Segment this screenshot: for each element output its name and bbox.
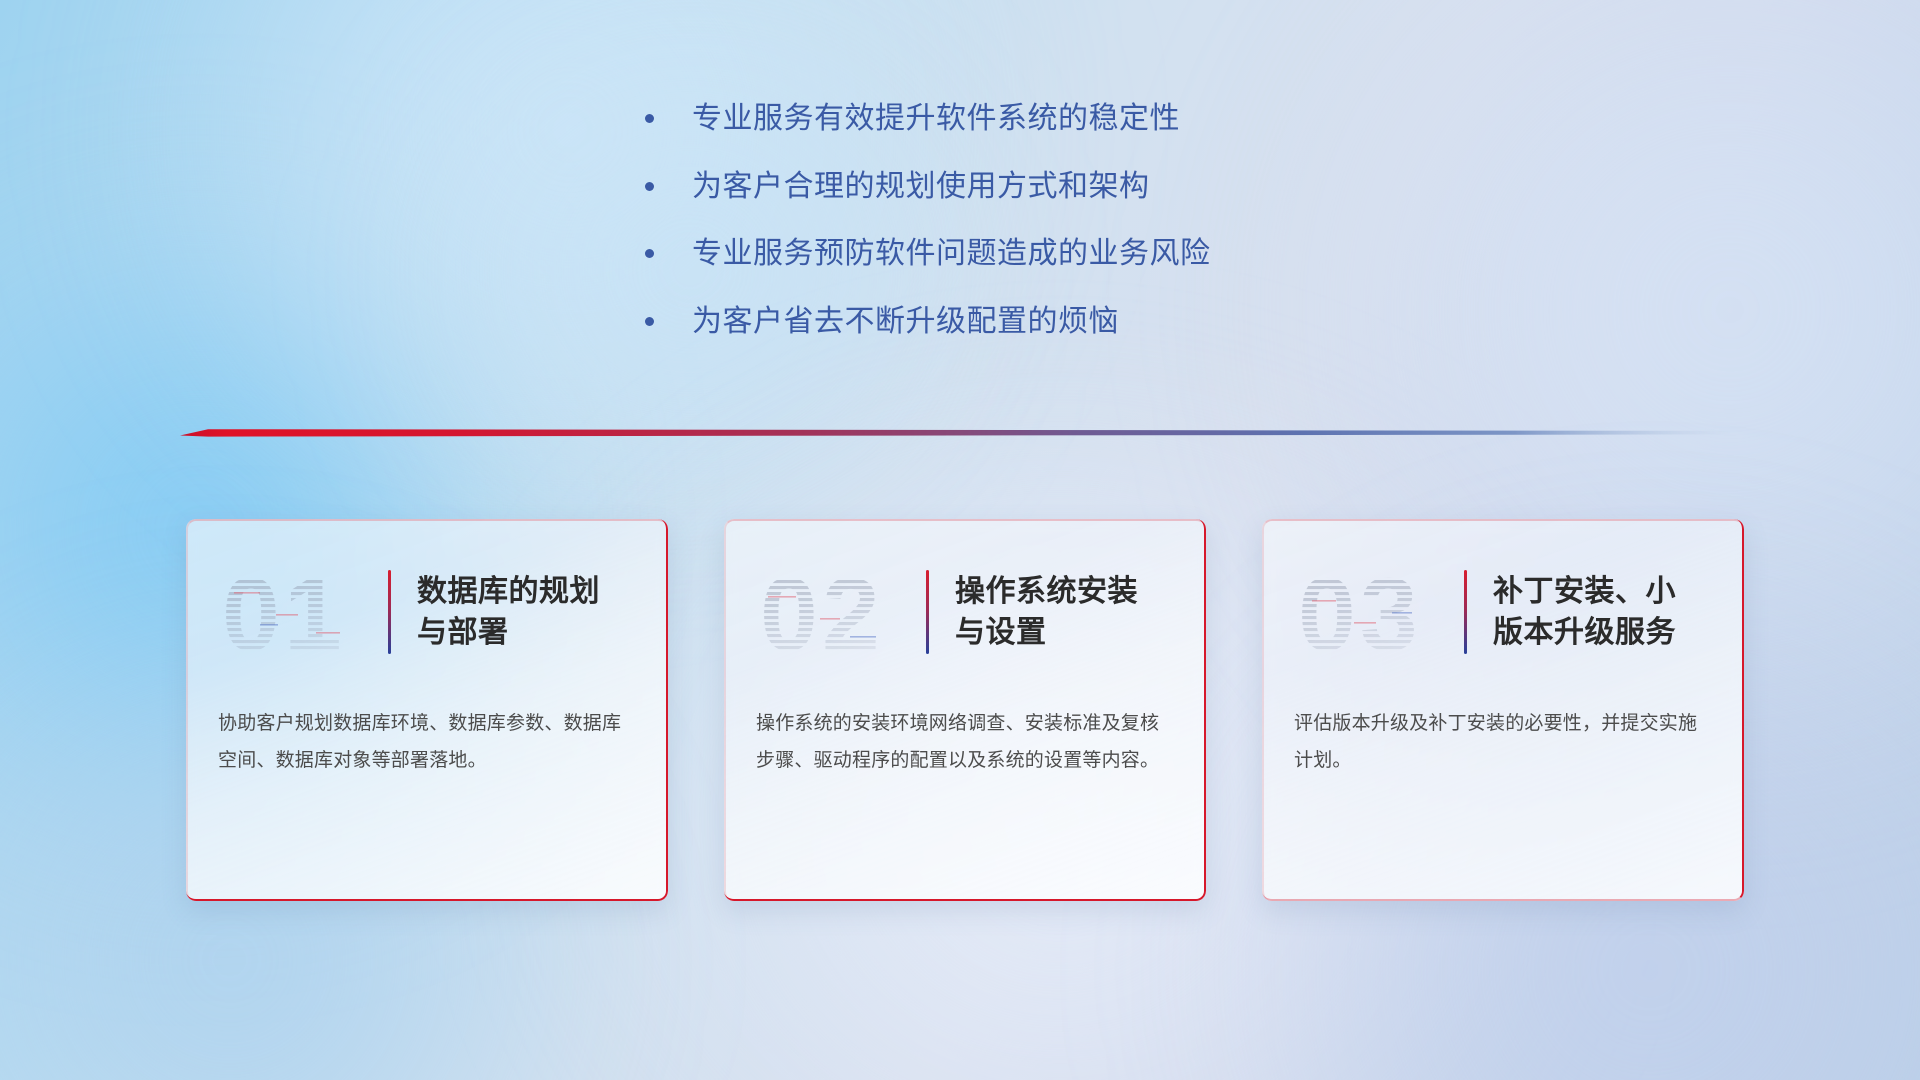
svg-text:01: 01 [222, 557, 346, 668]
card-header: 03 补丁安装、小 版本升级服务 [1262, 519, 1744, 705]
card-number-watermark: 02 [758, 556, 908, 668]
bullet-text: 专业服务预防软件问题造成的业务风险 [692, 235, 1211, 273]
list-item: 为客户合理的规划使用方式和架构 [645, 168, 1465, 206]
bullet-list: 专业服务有效提升软件系统的稳定性 为客户合理的规划使用方式和架构 专业服务预防软… [645, 100, 1465, 340]
service-card-row: 01 数据库的规划 与部署 协助客户规划数据库环境、数据库参数、数据库空间、数据… [186, 519, 1746, 911]
list-item: 为客户省去不断升级配置的烦恼 [645, 303, 1465, 341]
card-title: 数据库的规划 与部署 [417, 571, 600, 654]
bullet-dot-icon [645, 114, 654, 123]
card-body-text: 评估版本升级及补丁安装的必要性，并提交实施计划。 [1262, 705, 1744, 779]
card-number-watermark: 01 [220, 556, 370, 668]
card-accent-bar [1464, 570, 1467, 654]
bullet-text: 为客户合理的规划使用方式和架构 [692, 168, 1150, 206]
card-body-text: 操作系统的安装环境网络调查、安装标准及复核步骤、驱动程序的配置以及系统的设置等内… [724, 705, 1206, 779]
card-title: 操作系统安装 与设置 [955, 571, 1138, 654]
list-item: 专业服务有效提升软件系统的稳定性 [645, 100, 1465, 138]
card-accent-bar [388, 570, 391, 654]
card-body-text: 协助客户规划数据库环境、数据库参数、数据库空间、数据库对象等部署落地。 [186, 705, 668, 779]
card-number-watermark: 03 [1296, 556, 1446, 668]
service-card[interactable]: 01 数据库的规划 与部署 协助客户规划数据库环境、数据库参数、数据库空间、数据… [186, 519, 668, 901]
card-header: 01 数据库的规划 与部署 [186, 519, 668, 705]
list-item: 专业服务预防软件问题造成的业务风险 [645, 235, 1465, 273]
card-header: 02 操作系统安装 与设置 [724, 519, 1206, 705]
section-divider [180, 424, 1732, 442]
bullet-dot-icon [645, 317, 654, 326]
bullet-text: 专业服务有效提升软件系统的稳定性 [692, 100, 1180, 138]
card-title: 补丁安装、小 版本升级服务 [1493, 571, 1676, 654]
bullet-text: 为客户省去不断升级配置的烦恼 [692, 303, 1119, 341]
service-card[interactable]: 03 补丁安装、小 版本升级服务 评估版本升级及补丁安装的必要性，并提交实施计划… [1262, 519, 1744, 901]
bullet-dot-icon [645, 182, 654, 191]
divider-tapered-line-icon [180, 424, 1732, 442]
service-card[interactable]: 02 操作系统安装 与设置 操作系统的安装环境网络调查、安装标准及复核步骤、驱动… [724, 519, 1206, 901]
card-accent-bar [926, 570, 929, 654]
svg-text:02: 02 [760, 557, 884, 668]
bullet-dot-icon [645, 249, 654, 258]
